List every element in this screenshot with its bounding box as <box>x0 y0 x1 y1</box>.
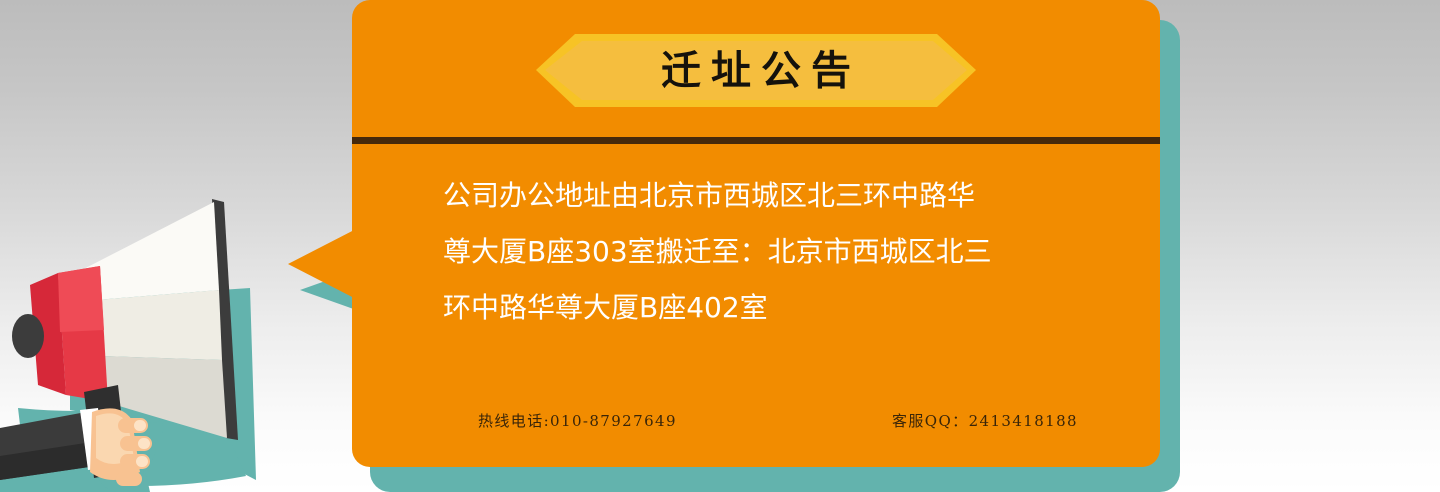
hotline-text: 热线电话:010-87927649 <box>478 410 677 431</box>
footer-contacts: 热线电话:010-87927649 客服QQ：2413418188 <box>478 410 1078 431</box>
announcement-line-1: 公司办公地址由北京市西城区北三环中路华 <box>443 168 1093 224</box>
announcement-line-2: 尊大厦B座303室搬迁至：北京市西城区北三 <box>443 224 1093 280</box>
qq-text: 客服QQ：2413418188 <box>892 410 1078 431</box>
announcement-banner: 迁址公告 公司办公地址由北京市西城区北三环中路华 尊大厦B座303室搬迁至：北京… <box>0 0 1440 492</box>
title-ribbon: 迁址公告 <box>535 33 977 108</box>
header-divider <box>352 137 1160 144</box>
speech-tail <box>288 228 358 300</box>
announcement-body: 公司办公地址由北京市西城区北三环中路华 尊大厦B座303室搬迁至：北京市西城区北… <box>443 168 1093 336</box>
announcement-line-3: 环中路华尊大厦B座402室 <box>443 280 1093 336</box>
megaphone-illustration <box>0 180 340 492</box>
ribbon-title-text: 迁址公告 <box>535 33 977 108</box>
